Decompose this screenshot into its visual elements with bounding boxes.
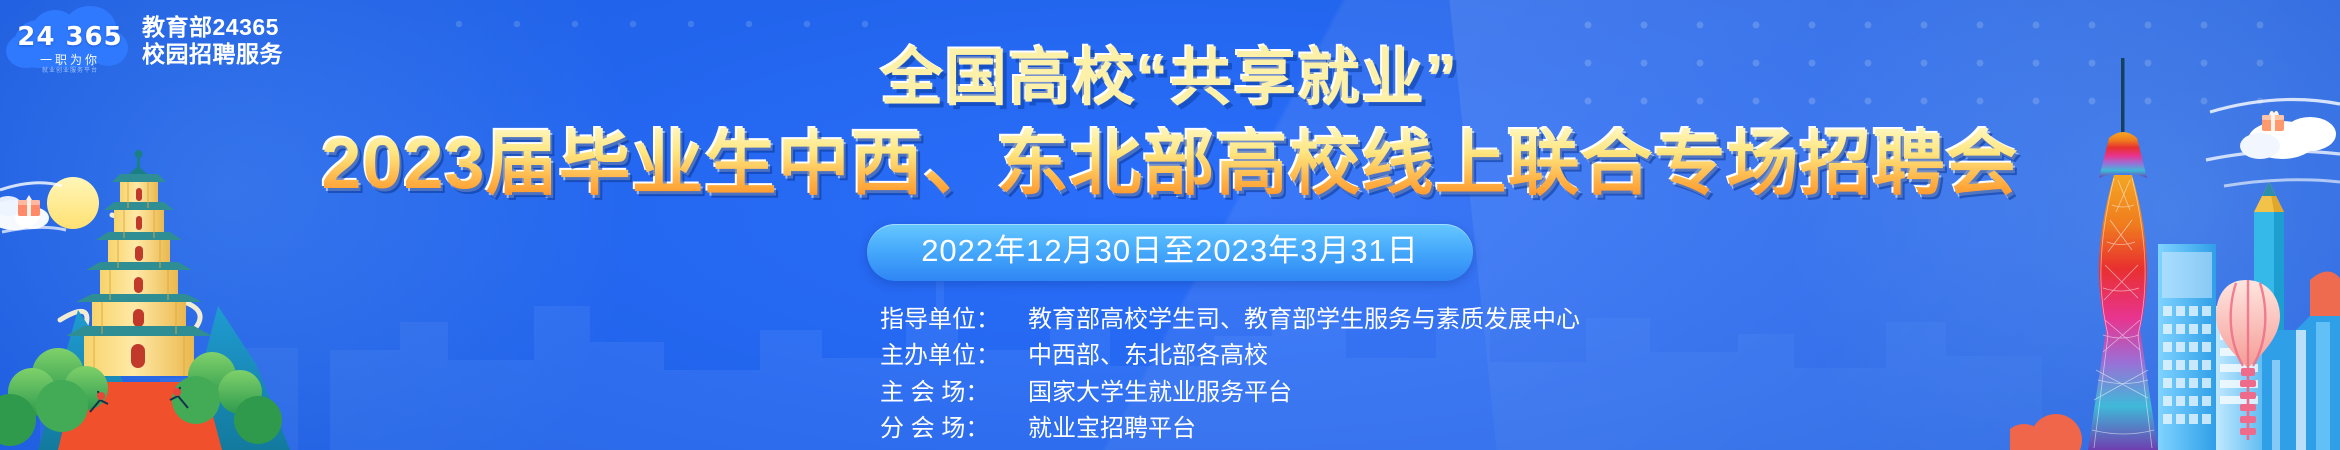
logo-badge-slogan: 一职为你 (15, 54, 125, 66)
recruitment-banner: 24 365 一职为你 就业创业服务平台 教育部24365 校园招聘服务 全国高… (0, 0, 2340, 450)
organizer-info-list: 指导单位： 教育部高校学生司、教育部学生服务与素质发展中心 主办单位： 中西部、… (880, 305, 1580, 450)
organizer-info-row: 主 会 场： 国家大学生就业服务平台 (880, 378, 1580, 407)
info-label: 指导单位： (880, 305, 1028, 334)
organizer-info-row: 指导单位： 教育部高校学生司、教育部学生服务与素质发展中心 (880, 305, 1580, 334)
logo-wordmark: 教育部24365 校园招聘服务 (142, 14, 283, 68)
organizer-info-row: 分 会 场： 就业宝招聘平台 (880, 414, 1580, 443)
logo-wordmark-line2: 校园招聘服务 (142, 41, 283, 68)
date-pill-row: 2022年12月30日至2023年3月31日 (0, 224, 2340, 281)
info-value: 教育部高校学生司、教育部学生服务与素质发展中心 (1028, 305, 1580, 334)
banner-title-line1: 全国高校“共享就业” (0, 48, 2340, 110)
brand-logo[interactable]: 24 365 一职为你 就业创业服务平台 教育部24365 校园招聘服务 (6, 4, 283, 78)
logo-badge-subslogan: 就业创业服务平台 (15, 68, 125, 74)
title-block: 全国高校“共享就业” 2023届毕业生中西、东北部高校线上联合专场招聘会 (0, 0, 2340, 200)
logo-badge-number: 24 365 (15, 24, 125, 50)
info-value: 国家大学生就业服务平台 (1028, 378, 1292, 407)
banner-title-line2: 2023届毕业生中西、东北部高校线上联合专场招聘会 (0, 128, 2340, 200)
info-label: 分 会 场： (880, 414, 1028, 443)
logo-wordmark-line1: 教育部24365 (142, 14, 283, 41)
info-value: 就业宝招聘平台 (1028, 414, 1196, 443)
info-label: 主 会 场： (880, 378, 1028, 407)
event-date-badge: 2022年12月30日至2023年3月31日 (867, 224, 1473, 281)
info-label: 主办单位： (880, 341, 1028, 370)
info-value: 中西部、东北部各高校 (1028, 341, 1268, 370)
organizer-info-row: 主办单位： 中西部、东北部各高校 (880, 341, 1580, 370)
logo-cloud-icon: 24 365 一职为你 就业创业服务平台 (6, 4, 132, 78)
